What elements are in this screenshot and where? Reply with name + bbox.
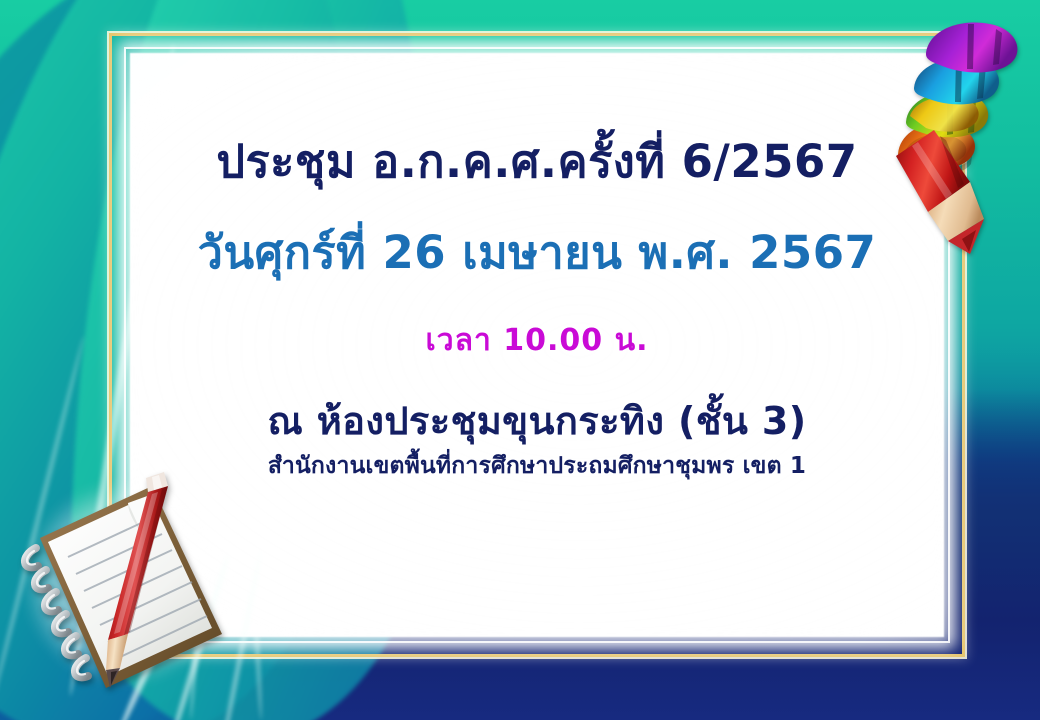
meeting-title: ประชุม อ.ก.ค.ศ.ครั้งที่ 6/2567 [216, 138, 857, 185]
meeting-venue: ณ ห้องประชุมขุนกระทิง (ชั้น 3) [267, 402, 806, 442]
meeting-time: เวลา 10.00 น. [425, 325, 648, 357]
announcement-poster: ประชุม อ.ก.ค.ศ.ครั้งที่ 6/2567 วันศุกร์ท… [0, 0, 1040, 720]
meeting-date: วันศุกร์ที่ 26 เมษายน พ.ศ. 2567 [198, 229, 877, 276]
organization-name: สำนักงานเขตพื้นที่การศึกษาประถมศึกษาชุมพ… [268, 454, 806, 478]
